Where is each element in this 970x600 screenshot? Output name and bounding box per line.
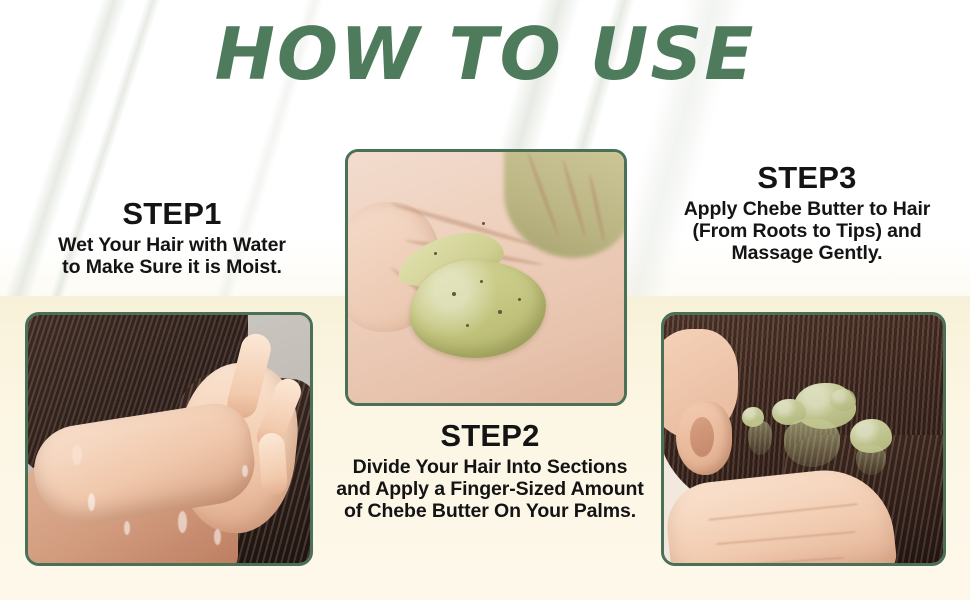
step3-text-block: STEP3 Apply Chebe Butter to Hair (From R… [652, 162, 962, 265]
step2-photo [348, 152, 624, 403]
step3-photo [664, 315, 943, 563]
step3-description: Apply Chebe Butter to Hair (From Roots t… [652, 198, 962, 265]
step2-description: Divide Your Hair Into Sections and Apply… [318, 456, 662, 523]
step1-text-block: STEP1 Wet Your Hair with Water to Make S… [14, 198, 330, 278]
step3-description-line-3: Massage Gently. [652, 242, 962, 264]
how-to-use-infographic: HOW TO USE STEP1 Wet Your Hair with Wate… [0, 0, 970, 600]
step2-text-block: STEP2 Divide Your Hair Into Sections and… [318, 420, 662, 523]
step1-description-line-1: Wet Your Hair with Water [14, 234, 330, 256]
step3-description-line-2: (From Roots to Tips) and [652, 220, 962, 242]
step2-photo-panel [345, 149, 627, 406]
page-title: HOW TO USE [0, 18, 970, 90]
step1-description: Wet Your Hair with Water to Make Sure it… [14, 234, 330, 279]
step3-photo-panel [661, 312, 946, 566]
step1-photo [28, 315, 310, 563]
step2-description-line-1: Divide Your Hair Into Sections [318, 456, 662, 478]
step1-photo-panel [25, 312, 313, 566]
step3-heading: STEP3 [652, 162, 962, 195]
step2-description-line-2: and Apply a Finger-Sized Amount [318, 478, 662, 500]
step2-description-line-3: of Chebe Butter On Your Palms. [318, 500, 662, 522]
step2-heading: STEP2 [318, 420, 662, 453]
step1-heading: STEP1 [14, 198, 330, 231]
step1-description-line-2: to Make Sure it is Moist. [14, 256, 330, 278]
step3-description-line-1: Apply Chebe Butter to Hair [652, 198, 962, 220]
